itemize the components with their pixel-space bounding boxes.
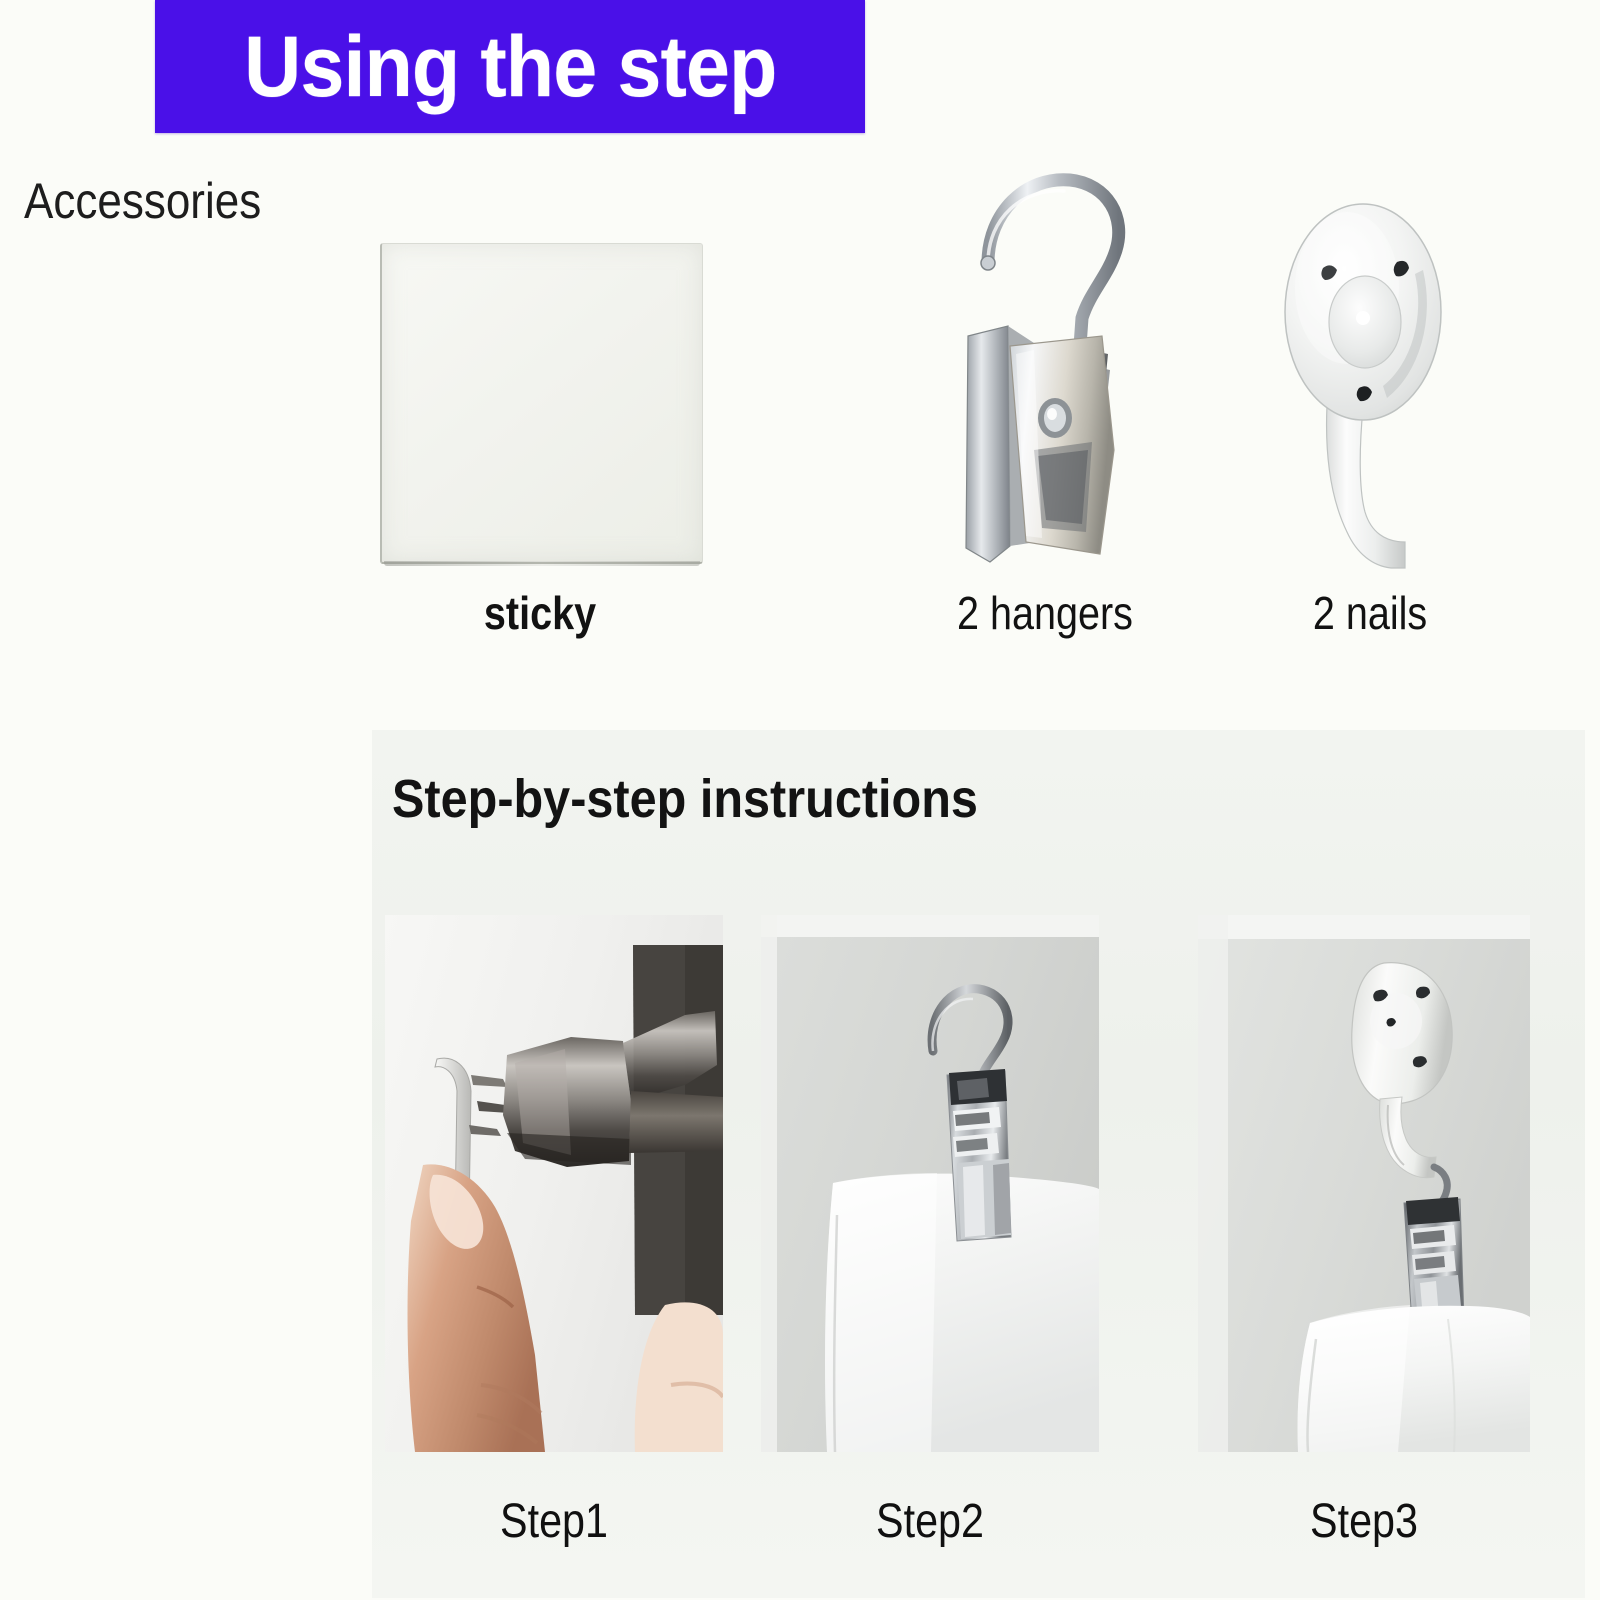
step-label-2: Step2: [785, 1498, 1076, 1546]
step-label-1: Step1: [409, 1498, 700, 1546]
step-photos: [0, 0, 1600, 1600]
hammer-nailing-hook-into-wall: [385, 915, 723, 1452]
step-photo-3: [1198, 915, 1530, 1452]
hook-mounted-holding-clip-and-fabric: [1198, 915, 1530, 1452]
product-instruction-infographic: Using the step Accessories sticky: [0, 0, 1600, 1600]
step-label-3: Step3: [1221, 1498, 1507, 1546]
step-photo-2: [761, 915, 1099, 1452]
step-photo-1: [385, 915, 723, 1452]
clip-hanger-gripping-fabric: [761, 915, 1099, 1452]
